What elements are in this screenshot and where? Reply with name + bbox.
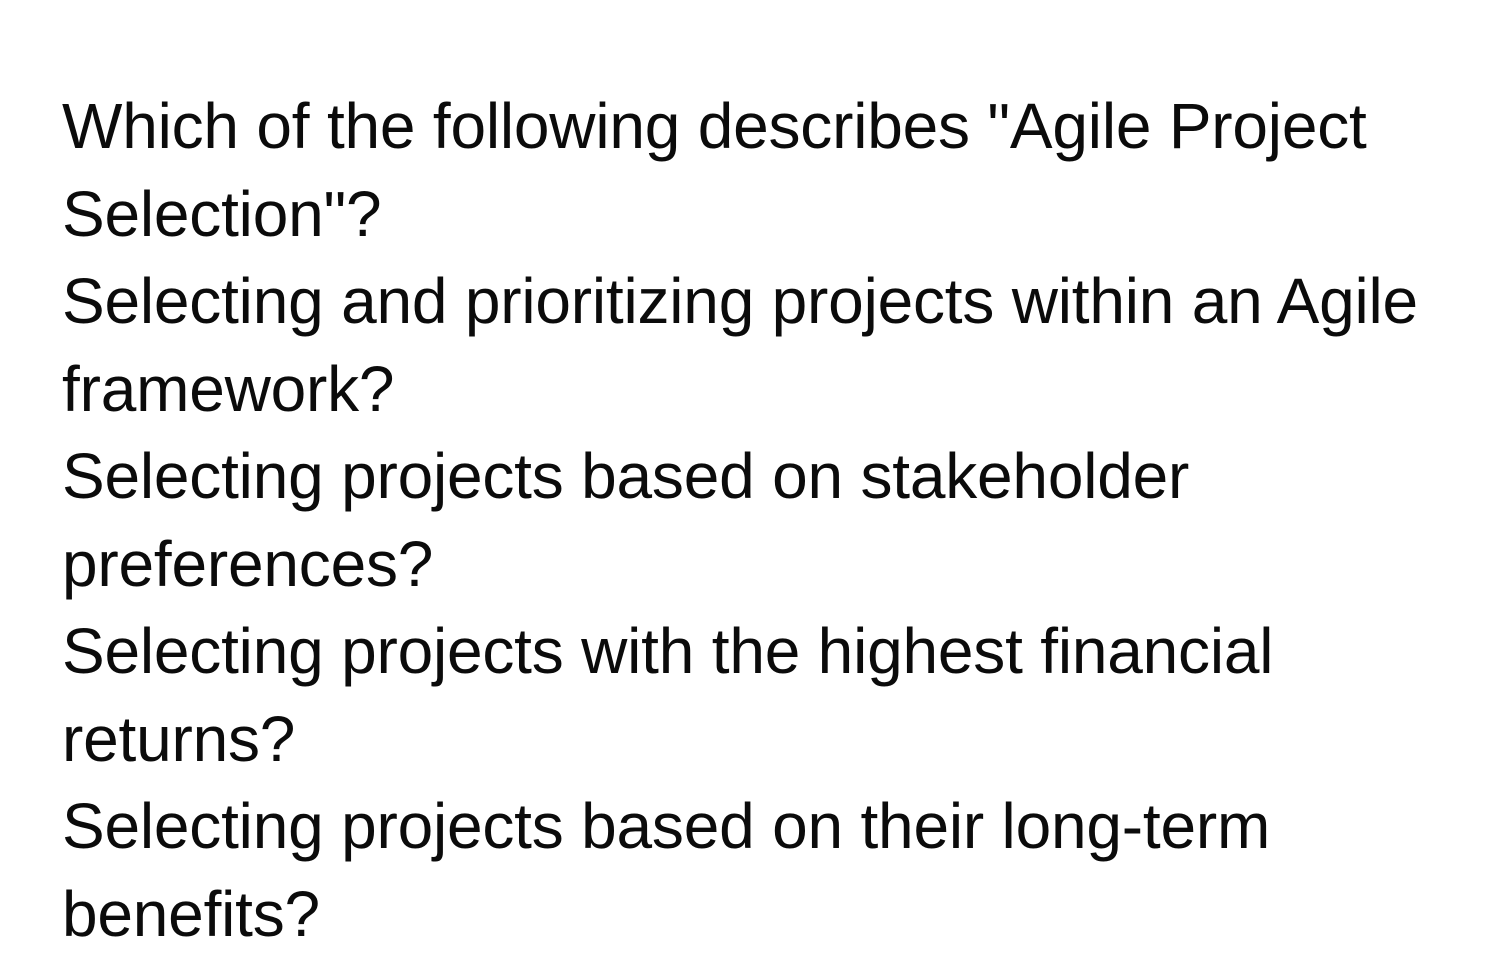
question-stem: Which of the following describes "Agile … bbox=[62, 83, 1462, 258]
answer-option-4[interactable]: Selecting projects based on their long-t… bbox=[62, 783, 1462, 958]
question-block: Which of the following describes "Agile … bbox=[62, 83, 1462, 958]
question-content: Which of the following describes "Agile … bbox=[62, 83, 1462, 958]
answer-option-1[interactable]: Selecting and prioritizing projects with… bbox=[62, 258, 1462, 433]
answer-option-3[interactable]: Selecting projects with the highest fina… bbox=[62, 608, 1462, 783]
document-page: Which of the following describes "Agile … bbox=[0, 0, 1500, 952]
answer-option-2[interactable]: Selecting projects based on stakeholder … bbox=[62, 433, 1462, 608]
